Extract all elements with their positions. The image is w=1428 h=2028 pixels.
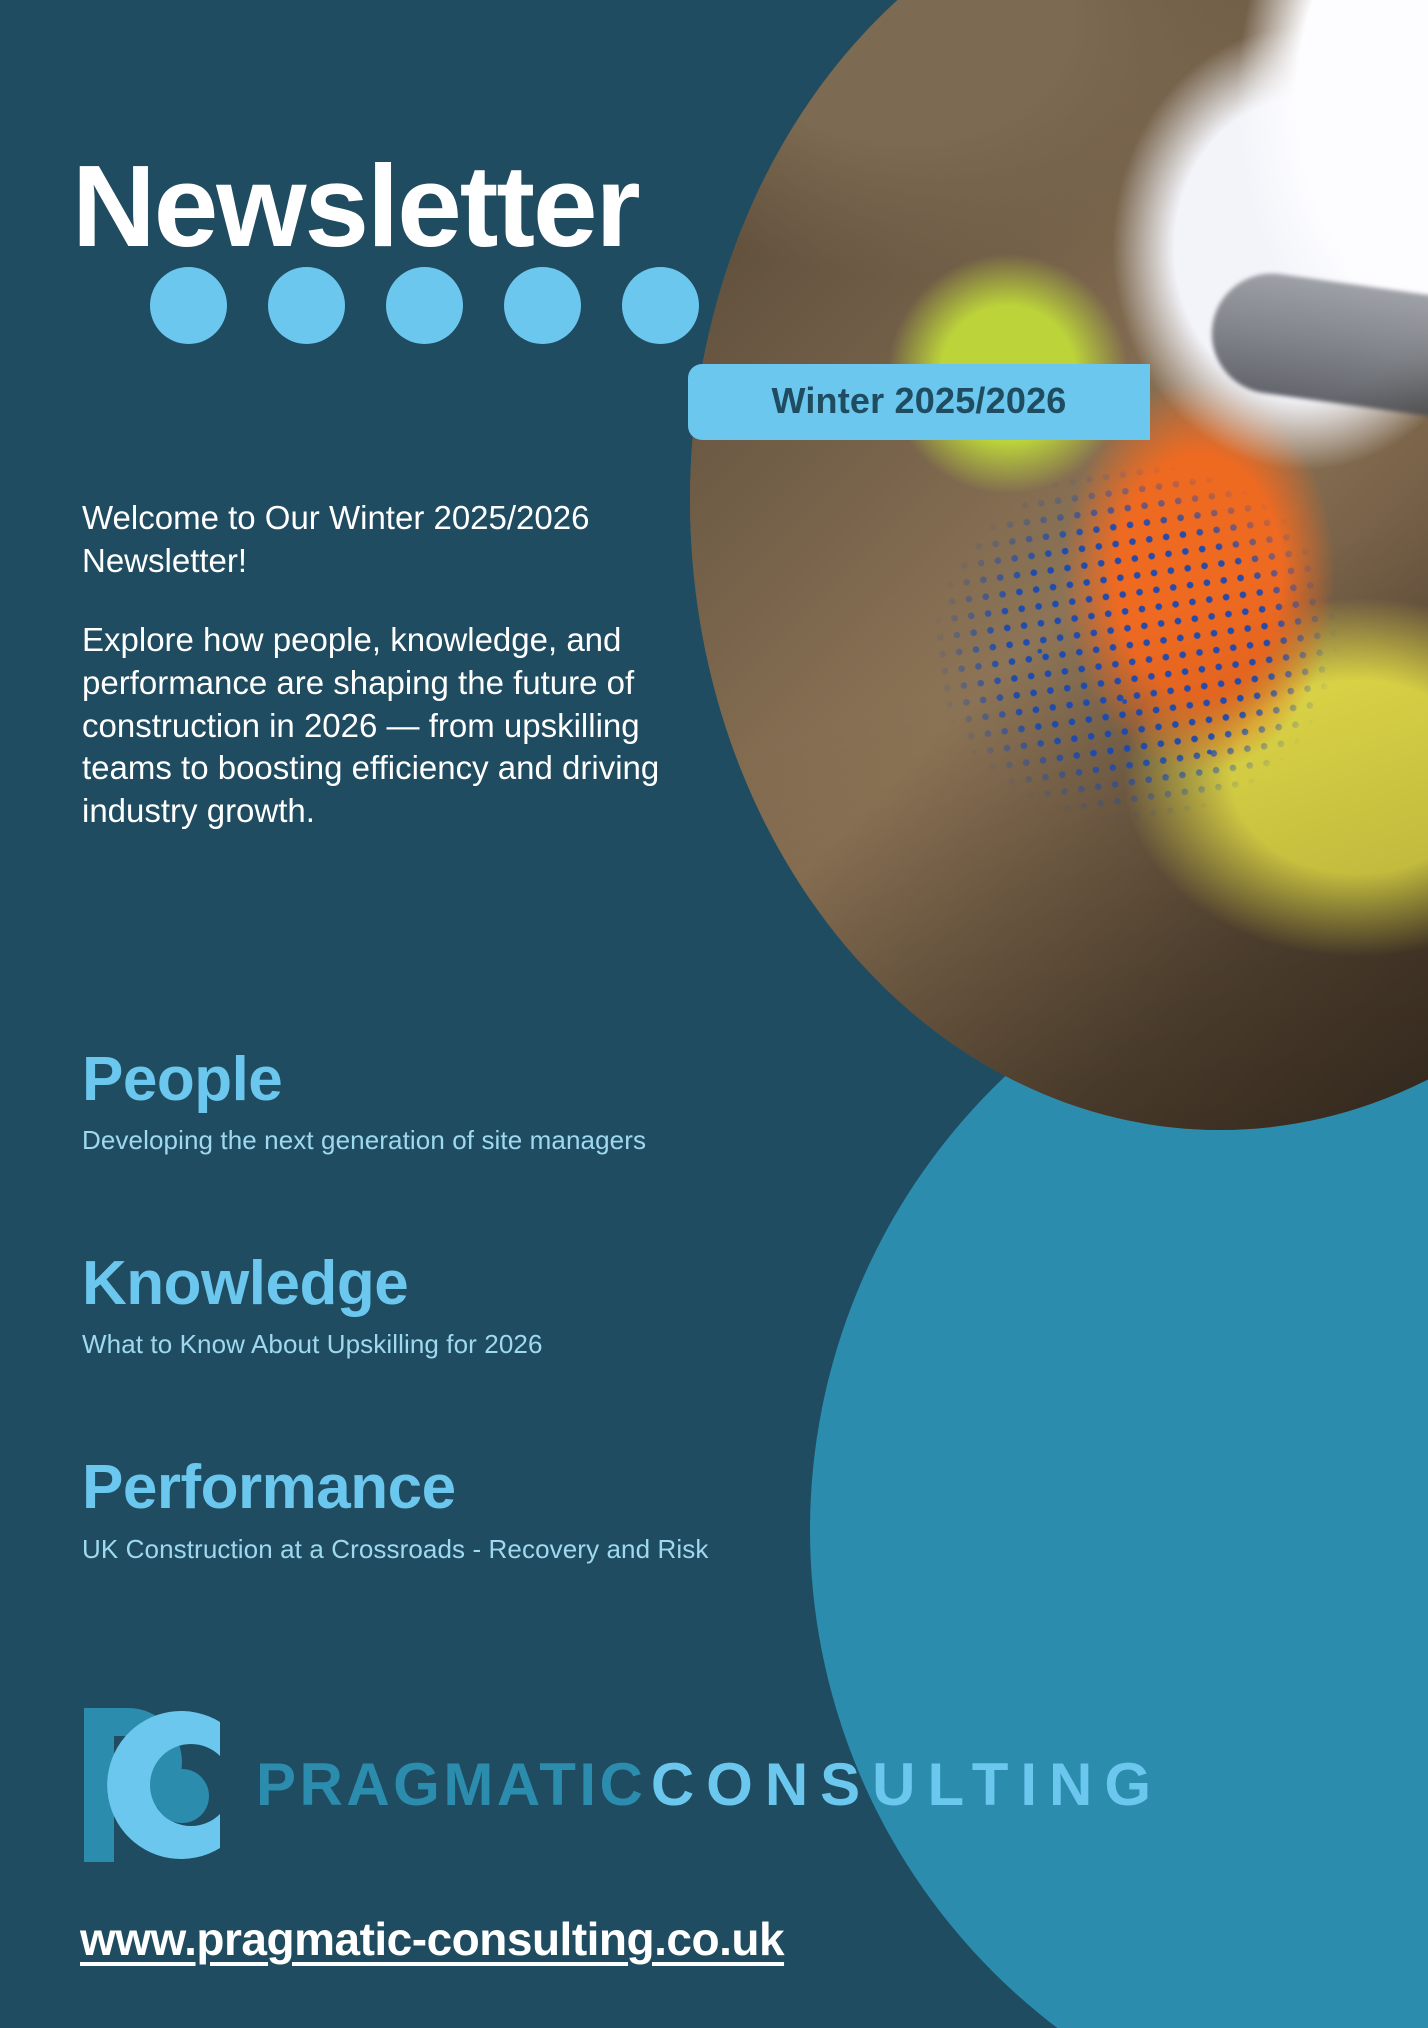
decorative-dot [386,267,463,344]
contents-item-subtitle: Developing the next generation of site m… [82,1125,842,1156]
glove-grip-dots-texture [839,393,1428,946]
pc-monogram-icon [78,1700,234,1870]
contents-list: People Developing the next generation of… [82,1048,842,1565]
contents-item-title: People [82,1048,842,1111]
contents-item-people[interactable]: People Developing the next generation of… [82,1048,842,1156]
contents-item-performance[interactable]: Performance UK Construction at a Crossro… [82,1456,842,1564]
hero-photo-circle [690,0,1428,1130]
newsletter-cover: Newsletter Winter 2025/2026 Welcome to O… [0,0,1428,2028]
website-url[interactable]: www.pragmatic-consulting.co.uk [80,1912,784,1966]
brand-logo-wordmark: PRAGMATIC CONSULTING [256,1753,1163,1818]
brand-word-consulting: CONSULTING [651,1751,1163,1818]
contents-item-subtitle: UK Construction at a Crossroads - Recove… [82,1534,842,1565]
intro-body: Explore how people, knowledge, and perfo… [82,619,682,833]
issue-date-badge: Winter 2025/2026 [688,364,1150,440]
decorative-dot [268,267,345,344]
decorative-dot [622,267,699,344]
decorative-dot-row [150,267,699,344]
contents-item-title: Performance [82,1456,842,1519]
page-title: Newsletter [72,148,639,264]
decorative-dot [150,267,227,344]
intro-copy: Welcome to Our Winter 2025/2026 Newslett… [82,497,682,833]
contents-item-knowledge[interactable]: Knowledge What to Know About Upskilling … [82,1252,842,1360]
contents-item-title: Knowledge [82,1252,842,1315]
brand-logo: PRAGMATIC CONSULTING [78,1700,1163,1870]
contents-item-subtitle: What to Know About Upskilling for 2026 [82,1329,842,1360]
brand-word-pragmatic: PRAGMATIC [256,1751,646,1818]
decorative-dot [504,267,581,344]
intro-heading: Welcome to Our Winter 2025/2026 Newslett… [82,497,682,583]
